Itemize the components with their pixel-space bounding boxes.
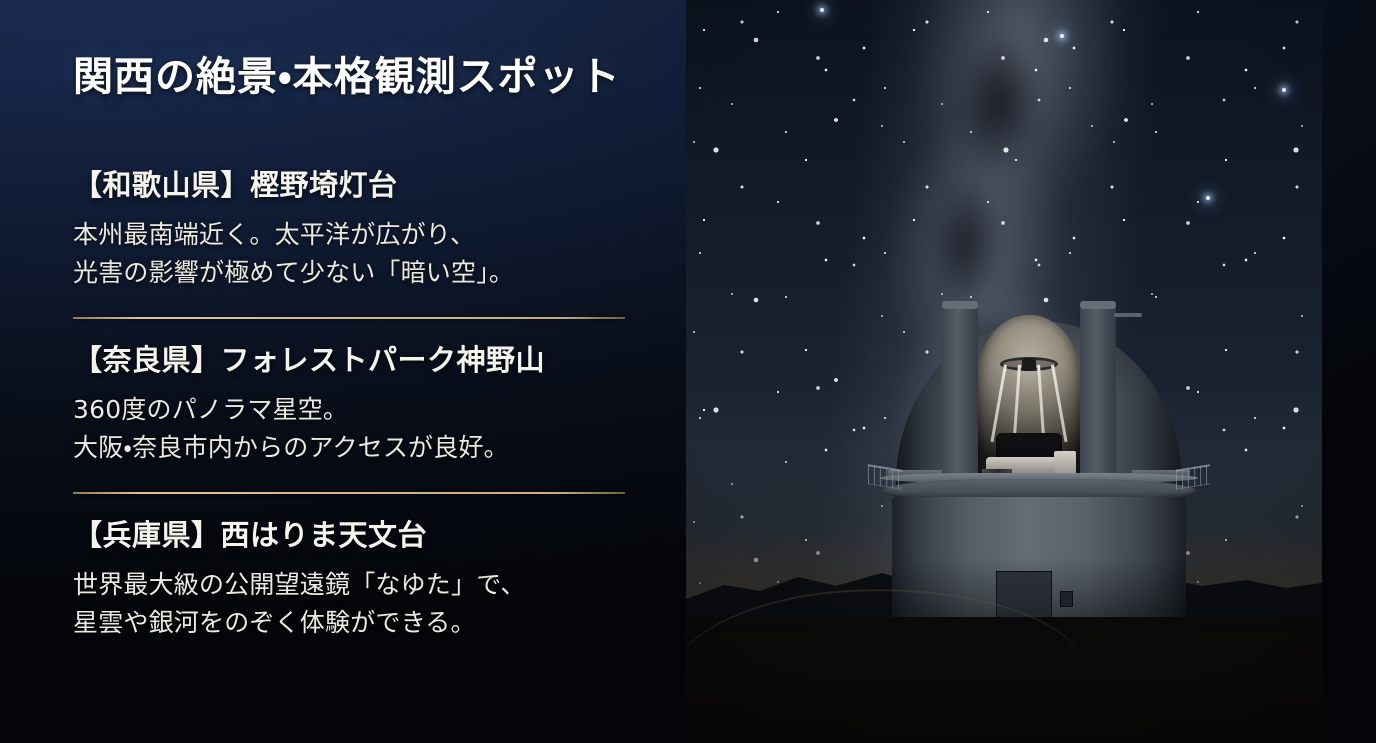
bright-star-icon xyxy=(1282,88,1286,92)
divider xyxy=(73,492,625,494)
text-panel: 関西の絶景・本格観測スポット 【和歌山県】樫野埼灯台 本州最南端近く。太平洋が広… xyxy=(0,0,688,743)
spot-list: 【和歌山県】樫野埼灯台 本州最南端近く。太平洋が広がり、 光害の影響が極めて少な… xyxy=(73,168,629,641)
spot-description-line: 光害の影響が極めて少ない「暗い空」。 xyxy=(73,254,629,292)
telescope-truss-strut xyxy=(990,365,1006,442)
presentation-slide: 関西の絶景・本格観測スポット 【和歌山県】樫野埼灯台 本州最南端近く。太平洋が広… xyxy=(0,0,1376,743)
page-title: 関西の絶景・本格観測スポット xyxy=(73,44,621,102)
list-item: 【兵庫県】西はりま天文台 世界最大級の公開望遠鏡「なゆた」で、 星雲や銀河をのぞ… xyxy=(73,518,629,641)
spot-heading: 【兵庫県】西はりま天文台 xyxy=(73,518,629,555)
spot-heading: 【和歌山県】樫野埼灯台 xyxy=(73,168,629,205)
telescope-truss-strut xyxy=(1013,365,1021,443)
observatory-photo xyxy=(686,0,1322,743)
dome-slit-opening xyxy=(978,315,1080,487)
list-item: 【和歌山県】樫野埼灯台 本州最南端近く。太平洋が広がり、 光害の影響が極めて少な… xyxy=(73,168,629,291)
telescope-truss-strut xyxy=(1051,365,1067,442)
spot-description-line: 360度のパノラマ星空。 xyxy=(73,391,629,429)
spot-description-line: 本州最南端近く。太平洋が広がり、 xyxy=(73,216,629,254)
building-vent xyxy=(1060,591,1073,607)
foreground-ground xyxy=(686,617,1322,743)
dome-shutter-right xyxy=(1080,307,1116,489)
shutter-arm xyxy=(1114,313,1142,317)
bright-star-icon xyxy=(820,8,824,12)
spot-description: 世界最大級の公開望遠鏡「なゆた」で、 星雲や銀河をのぞく体験ができる。 xyxy=(73,566,629,641)
balcony-railing xyxy=(868,464,902,489)
spot-description: 360度のパノラマ星空。 大阪・奈良市内からのアクセスが良好。 xyxy=(73,391,629,466)
spot-description-line: 大阪・奈良市内からのアクセスが良好。 xyxy=(73,429,629,467)
spot-description: 本州最南端近く。太平洋が広がり、 光害の影響が極めて少ない「暗い空」。 xyxy=(73,216,629,291)
spot-description-line: 星雲や銀河をのぞく体験ができる。 xyxy=(73,604,629,642)
spot-description-line: 世界最大級の公開望遠鏡「なゆた」で、 xyxy=(73,566,629,604)
divider xyxy=(73,317,625,319)
telescope-secondary-mirror xyxy=(1022,358,1036,371)
shutter-cap xyxy=(1080,301,1116,309)
bright-star-icon xyxy=(1060,34,1064,38)
shutter-cap xyxy=(942,301,978,309)
bright-star-icon xyxy=(1206,196,1210,200)
telescope-truss-strut xyxy=(1037,365,1045,443)
list-item: 【奈良県】フォレストパーク神野山 360度のパノラマ星空。 大阪・奈良市内からの… xyxy=(73,343,629,466)
slide-right-edge xyxy=(1322,0,1376,743)
spot-heading: 【奈良県】フォレストパーク神野山 xyxy=(73,343,629,380)
dome-shutter-left xyxy=(942,307,978,489)
